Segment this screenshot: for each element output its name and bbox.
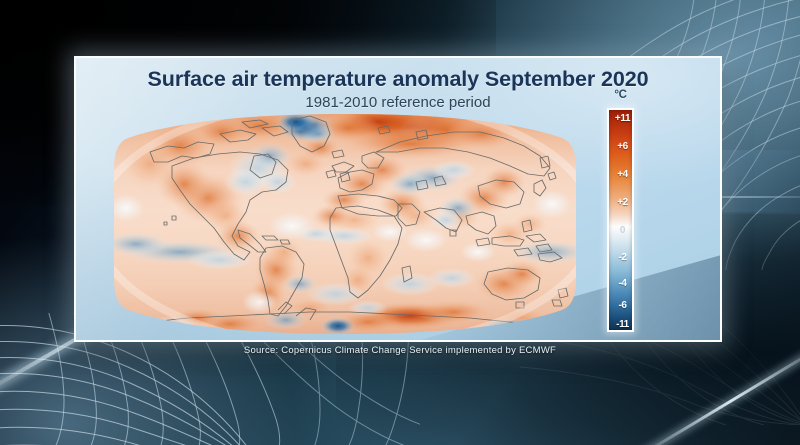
colorbar-tick-minus4: -4 bbox=[609, 279, 636, 289]
broadcast-graphic: Surface air temperature anomaly Septembe… bbox=[0, 0, 800, 445]
robinson-projection-map bbox=[110, 112, 580, 336]
colorbar-tick-minus11: -11 bbox=[609, 320, 636, 330]
colorbar-tick-plus2: +2 bbox=[609, 198, 636, 208]
colorbar-gradient: +11 +6 +4 +2 0 -2 -4 -6 -11 bbox=[607, 108, 634, 332]
colorbar-tick-minus2: -2 bbox=[609, 253, 636, 263]
degree-celsius-label: °C bbox=[607, 89, 634, 101]
colorbar-tick-plus6: +6 bbox=[609, 142, 636, 152]
source-attribution: Source: Copernicus Climate Change Servic… bbox=[0, 345, 800, 356]
map-anomaly-field bbox=[110, 112, 580, 336]
colorbar-tick-plus4: +4 bbox=[609, 170, 636, 180]
colorbar-legend: °C +11 +6 +4 +2 0 -2 -4 -6 -11 bbox=[607, 108, 634, 332]
colorbar-tick-zero: 0 bbox=[609, 226, 636, 236]
map-panel: Surface air temperature anomaly Septembe… bbox=[74, 56, 722, 342]
world-anomaly-map bbox=[110, 112, 580, 336]
colorbar-tick-minus6: -6 bbox=[609, 301, 636, 311]
colorbar-tick-plus11: +11 bbox=[609, 114, 636, 124]
